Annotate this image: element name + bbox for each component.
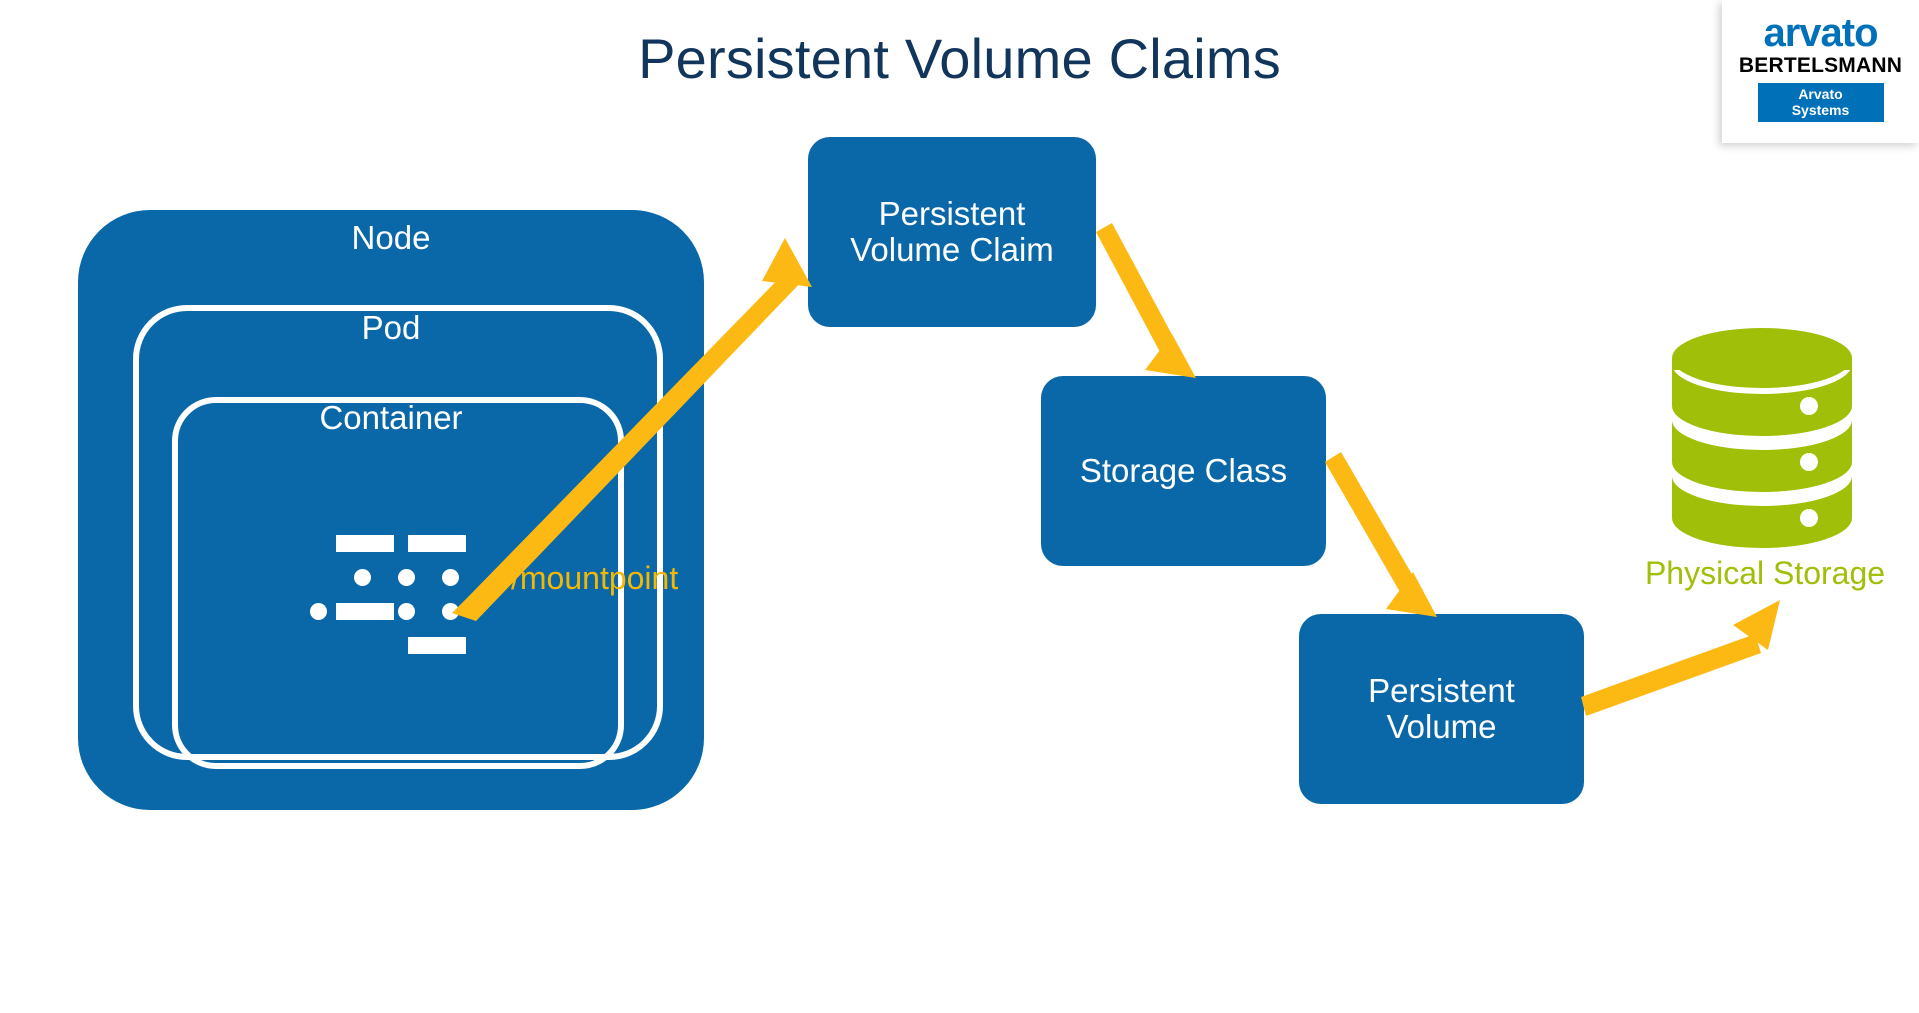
slide-canvas: Persistent Volume Claims arvato BERTELSM… [0, 0, 1919, 1013]
storage-class-box[interactable]: Storage Class [1041, 376, 1326, 566]
arrow-storage-class-to-pv [1325, 452, 1437, 617]
logo-brand-text: arvato [1763, 13, 1877, 53]
node-label: Node [78, 220, 704, 256]
pv-label-line2: Volume [1386, 709, 1496, 745]
persistent-volume-claim-box[interactable]: Persistent Volume Claim [808, 137, 1096, 327]
pvc-label-line1: Persistent [879, 196, 1026, 232]
container-label: Container [78, 400, 704, 436]
arrow-pvc-to-storage-class [1096, 223, 1196, 378]
logo-group-text: BERTELSMANN [1739, 54, 1902, 78]
data-blocks-icon [312, 535, 442, 635]
pv-label-line1: Persistent [1368, 673, 1515, 709]
storage-class-label: Storage Class [1080, 453, 1287, 489]
pvc-label-line2: Volume Claim [850, 232, 1054, 268]
page-title: Persistent Volume Claims [0, 28, 1919, 90]
pod-label: Pod [78, 310, 704, 346]
node-box[interactable]: Node Pod Container [78, 210, 704, 810]
arrow-pv-to-physical-storage [1581, 600, 1780, 716]
persistent-volume-box[interactable]: Persistent Volume [1299, 614, 1584, 804]
logo-unit-band: Arvato Systems [1758, 83, 1884, 122]
arvato-bertelsmann-logo: arvato BERTELSMANN Arvato Systems [1722, 0, 1919, 143]
database-cylinder-icon [1672, 326, 1852, 548]
mountpoint-label: /mountpoint [511, 560, 678, 597]
physical-storage-label: Physical Storage [1620, 555, 1910, 592]
